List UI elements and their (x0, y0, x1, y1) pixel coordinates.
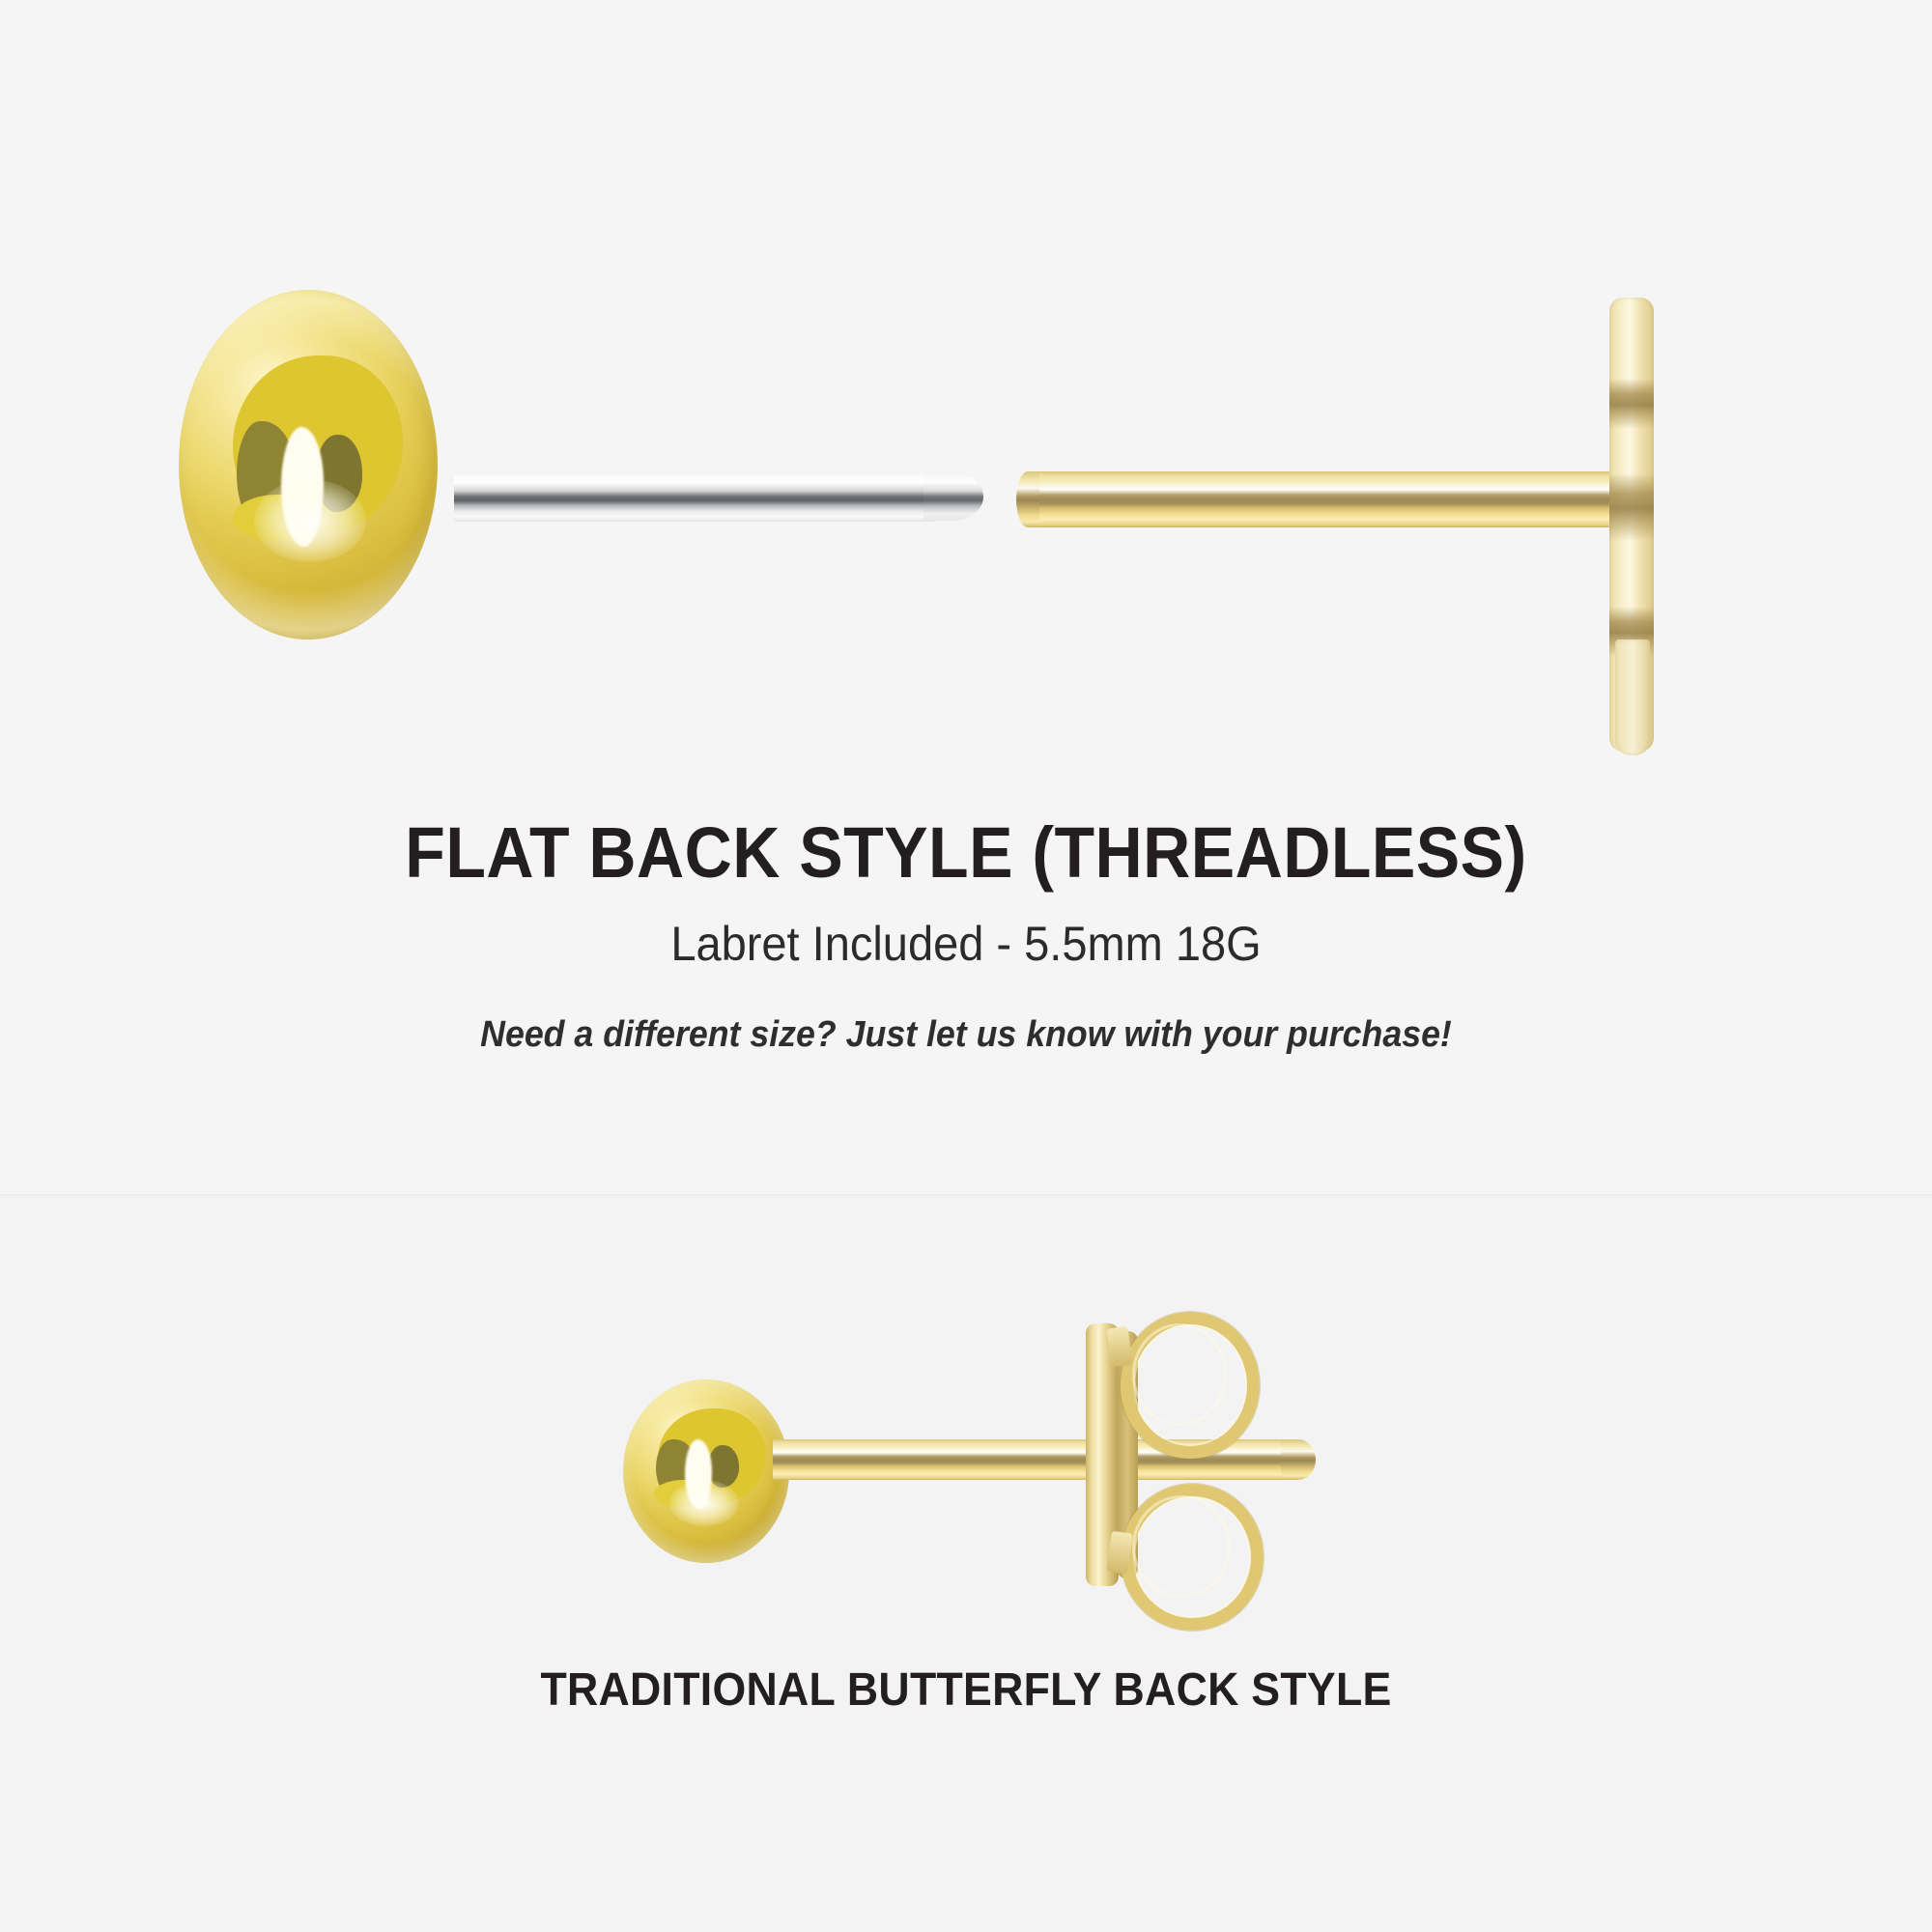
ball-rim-light (179, 290, 438, 639)
flat-back-title: FLAT BACK STYLE (THREADLESS) (77, 811, 1855, 894)
flat-disc-shadow-band-center (1609, 473, 1654, 541)
flat-back-note: Need a different size? Just let us know … (58, 1014, 1874, 1056)
butterfly-loop-lower-inner (1132, 1495, 1231, 1598)
gold-ball-stud (623, 1379, 789, 1563)
flat-back-section: FLAT BACK STYLE (THREADLESS) Labret Incl… (0, 0, 1932, 1196)
infographic-page: FLAT BACK STYLE (THREADLESS) Labret Incl… (0, 0, 1932, 1932)
flat-back-subtitle: Labret Included - 5.5mm 18G (58, 916, 1874, 972)
butterfly-back-title: TRADITIONAL BUTTERFLY BACK STYLE (68, 1663, 1864, 1717)
butterfly-back-section: TRADITIONAL BUTTERFLY BACK STYLE (0, 1196, 1932, 1932)
flat-disc-shadow-band-upper (1609, 379, 1654, 429)
gold-post-tip (1281, 1439, 1316, 1480)
butterfly-loop-upper-inner (1132, 1323, 1227, 1426)
gold-ball-top (179, 290, 438, 639)
titanium-post-tip (923, 472, 983, 521)
labret-bar-left-cap (1016, 471, 1039, 527)
flat-disc-bottom-flare (1615, 639, 1650, 755)
ball-rim-light (623, 1379, 789, 1563)
labret-bar (1026, 471, 1644, 527)
titanium-post (454, 471, 937, 522)
